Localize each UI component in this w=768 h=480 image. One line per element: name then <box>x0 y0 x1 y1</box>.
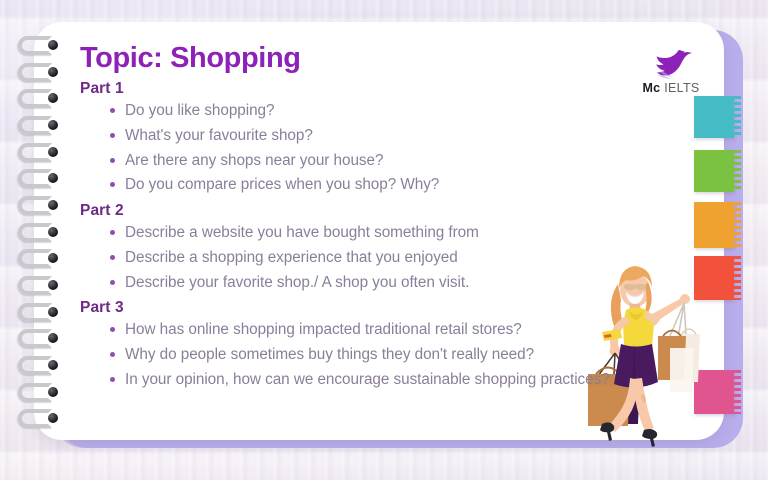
spiral-ring-tip <box>48 200 58 210</box>
spiral-ring-tip <box>48 67 58 77</box>
spiral-ring <box>18 196 66 216</box>
spiral-ring-tip <box>48 253 58 263</box>
question-text: Describe a website you have bought somet… <box>125 224 479 241</box>
index-tab-red-torn-edge <box>733 256 741 300</box>
spiral-ring-wire <box>18 329 52 348</box>
spiral-ring-tip <box>48 307 58 317</box>
logo-text: Mc IELTS <box>632 81 710 95</box>
question-item: Describe your favorite shop./ A shop you… <box>110 271 670 296</box>
question-text: Do you like shopping? <box>125 102 274 119</box>
spiral-ring-wire <box>18 356 52 375</box>
question-text: How has online shopping impacted traditi… <box>125 321 522 338</box>
question-item: How has online shopping impacted traditi… <box>110 318 670 343</box>
index-tab-teal-torn-edge <box>733 96 741 138</box>
index-tab-green-body <box>694 150 734 192</box>
bullet-icon <box>110 255 115 260</box>
notebook-card: Mc IELTS <box>18 22 748 454</box>
part-heading: Part 1 <box>80 80 670 98</box>
bullet-icon <box>110 108 115 113</box>
spiral-ring-wire <box>18 63 52 82</box>
question-item: Do you like shopping? <box>110 99 670 124</box>
spiral-ring <box>18 89 66 109</box>
question-list: How has online shopping impacted traditi… <box>80 318 670 392</box>
spiral-ring <box>18 409 66 429</box>
bullet-icon <box>110 377 115 382</box>
question-item: What's your favourite shop? <box>110 124 670 149</box>
question-text: Are there any shops near your house? <box>125 152 383 169</box>
spiral-ring <box>18 169 66 189</box>
question-list: Do you like shopping?What's your favouri… <box>80 99 670 198</box>
spiral-ring <box>18 36 66 56</box>
question-item: Do you compare prices when you shop? Why… <box>110 173 670 198</box>
bullet-icon <box>110 158 115 163</box>
bullet-icon <box>110 133 115 138</box>
mc-ielts-logo: Mc IELTS <box>632 48 710 95</box>
bullet-icon <box>110 352 115 357</box>
question-text: What's your favourite shop? <box>125 127 313 144</box>
spiral-ring-tip <box>48 40 58 50</box>
spiral-ring <box>18 249 66 269</box>
question-text: Describe a shopping experience that you … <box>125 249 458 266</box>
spiral-ring <box>18 303 66 323</box>
spiral-ring-wire <box>18 116 52 135</box>
spiral-ring-tip <box>48 333 58 343</box>
spiral-ring <box>18 276 66 296</box>
question-text: In your opinion, how can we encourage su… <box>125 371 610 388</box>
bullet-icon <box>110 327 115 332</box>
bullet-icon <box>110 182 115 187</box>
spiral-ring-wire <box>18 303 52 322</box>
logo-text-mc: Mc <box>642 81 660 95</box>
index-tab-orange-torn-edge <box>733 202 741 248</box>
logo-text-ielts: IELTS <box>664 81 699 95</box>
index-tab-green-torn-edge <box>733 150 741 192</box>
spiral-ring <box>18 63 66 83</box>
index-tab-green[interactable] <box>694 150 734 192</box>
sections-root: Part 1Do you like shopping?What's your f… <box>80 80 670 393</box>
spiral-ring-tip <box>48 280 58 290</box>
spiral-ring-wire <box>18 89 52 108</box>
spiral-ring-wire <box>18 383 52 402</box>
part-heading: Part 2 <box>80 202 670 220</box>
index-tab-orange-body <box>694 202 734 248</box>
page-title: Topic: Shopping <box>80 44 670 73</box>
spiral-ring-tip <box>48 147 58 157</box>
part-heading: Part 3 <box>80 299 670 317</box>
spiral-ring-wire <box>18 276 52 295</box>
spiral-ring-wire <box>18 249 52 268</box>
spiral-ring <box>18 383 66 403</box>
spiral-ring-tip <box>48 360 58 370</box>
question-item: In your opinion, how can we encourage su… <box>110 368 670 393</box>
spiral-ring-tip <box>48 173 58 183</box>
bird-icon <box>648 48 694 80</box>
spiral-ring-wire <box>18 36 52 55</box>
question-item: Why do people sometimes buy things they … <box>110 343 670 368</box>
bullet-icon <box>110 280 115 285</box>
spiral-ring-wire <box>18 196 52 215</box>
spiral-ring-wire <box>18 169 52 188</box>
spiral-ring-tip <box>48 387 58 397</box>
spiral-ring-wire <box>18 143 52 162</box>
spiral-ring <box>18 143 66 163</box>
question-item: Describe a shopping experience that you … <box>110 246 670 271</box>
question-text: Do you compare prices when you shop? Why… <box>125 176 439 193</box>
notebook-content: Topic: Shopping Part 1Do you like shoppi… <box>80 44 670 444</box>
spiral-ring-tip <box>48 120 58 130</box>
index-tab-teal-body <box>694 96 734 138</box>
question-item: Are there any shops near your house? <box>110 149 670 174</box>
question-list: Describe a website you have bought somet… <box>80 221 670 295</box>
index-tab-teal[interactable] <box>694 96 734 138</box>
spiral-ring-tip <box>48 227 58 237</box>
spiral-ring-tip <box>48 413 58 423</box>
spiral-ring-wire <box>18 409 52 428</box>
bullet-icon <box>110 230 115 235</box>
question-text: Why do people sometimes buy things they … <box>125 346 534 363</box>
index-tab-orange[interactable] <box>694 202 734 248</box>
spiral-ring <box>18 116 66 136</box>
spiral-ring <box>18 329 66 349</box>
spiral-ring-wire <box>18 223 52 242</box>
question-text: Describe your favorite shop./ A shop you… <box>125 274 469 291</box>
index-tab-pink-torn-edge <box>733 370 741 414</box>
spiral-binding <box>18 34 80 434</box>
question-item: Describe a website you have bought somet… <box>110 221 670 246</box>
spiral-ring <box>18 356 66 376</box>
spiral-ring-tip <box>48 93 58 103</box>
spiral-ring <box>18 223 66 243</box>
